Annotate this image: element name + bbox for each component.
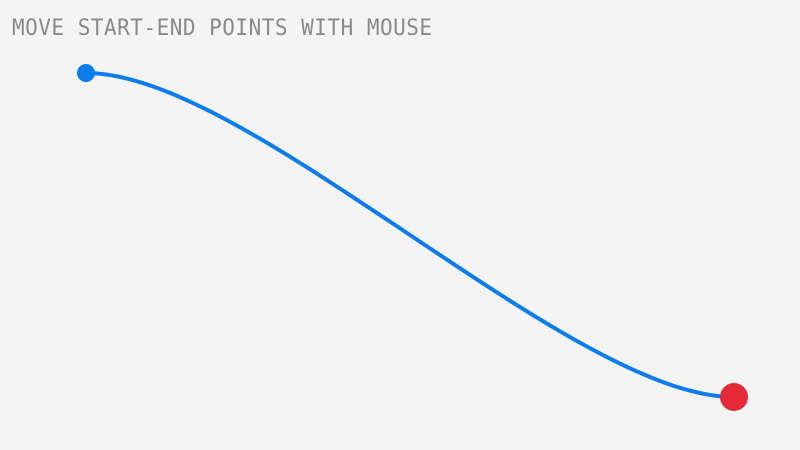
bezier-canvas[interactable]: MOVE START-END POINTS WITH MOUSE	[0, 0, 800, 450]
curve-stage	[0, 0, 800, 450]
bezier-curve-path	[86, 73, 734, 397]
end-point-drag-handle[interactable]	[715, 378, 753, 416]
start-point-drag-handle[interactable]	[72, 59, 100, 87]
